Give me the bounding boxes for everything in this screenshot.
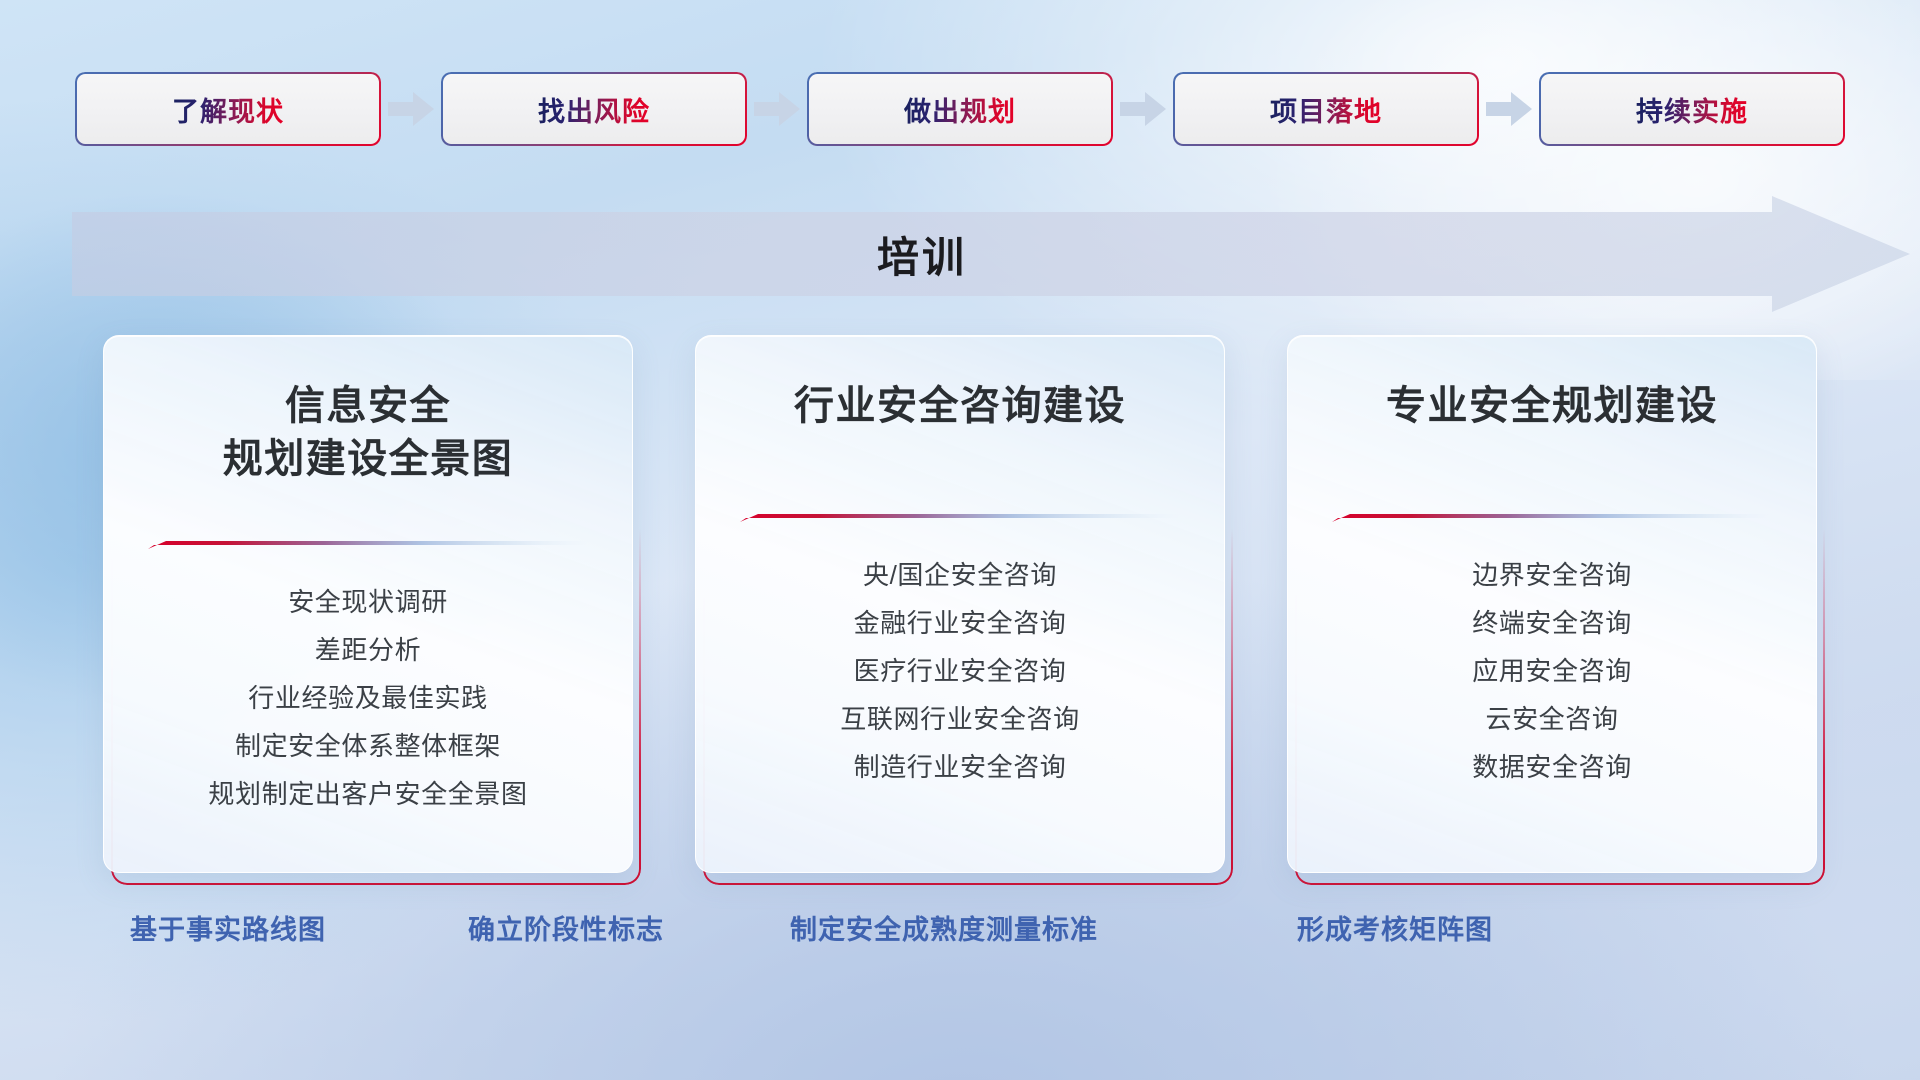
step-pill-3[interactable]: 做出规划 <box>807 72 1113 146</box>
list-item: 医疗行业安全咨询 <box>854 647 1067 695</box>
arrow-right-icon <box>747 72 807 146</box>
list-item: 互联网行业安全咨询 <box>840 695 1079 743</box>
arrow-right-icon <box>1479 72 1539 146</box>
footnote-row: 基于事实路线图 确立阶段性标志 制定安全成熟度测量标准 形成考核矩阵图 <box>0 908 1920 964</box>
step-pill-5[interactable]: 持续实施 <box>1539 72 1845 146</box>
card-title-1: 信息安全 规划建设全景图 <box>104 380 632 486</box>
step-pill-1[interactable]: 了解现状 <box>75 72 381 146</box>
training-banner: 培训 <box>72 196 1910 312</box>
card-list-2: 央/国企安全咨询 金融行业安全咨询 医疗行业安全咨询 互联网行业安全咨询 制造行… <box>696 525 1224 791</box>
step-pill-4[interactable]: 项目落地 <box>1173 72 1479 146</box>
card-divider-slot-2 <box>696 513 1224 525</box>
gradient-divider-icon <box>740 513 1180 525</box>
gradient-divider-icon <box>148 540 588 552</box>
step-label-4: 项目落地 <box>1270 90 1382 129</box>
card-row: 信息安全 规划建设全景图 <box>0 335 1920 873</box>
card-divider-slot-3 <box>1288 513 1816 525</box>
card-3[interactable]: 专业安全规划建设 <box>1287 335 1817 873</box>
card-title-2: 行业安全咨询建设 <box>696 380 1224 433</box>
footnote-1: 基于事实路线图 <box>130 908 326 947</box>
step-label-2: 找出风险 <box>538 90 650 129</box>
banner-title: 培训 <box>72 196 1772 312</box>
gradient-divider-icon <box>1332 513 1772 525</box>
slide-canvas: 了解现状 找出风险 做出规划 项目落地 <box>0 0 1920 1080</box>
list-item: 差距分析 <box>315 626 421 674</box>
list-item: 制定安全体系整体框架 <box>235 722 501 770</box>
step-label-1: 了解现状 <box>172 90 284 129</box>
arrow-right-icon <box>381 72 441 146</box>
list-item: 数据安全咨询 <box>1472 743 1632 791</box>
list-item: 安全现状调研 <box>288 578 448 626</box>
card-1[interactable]: 信息安全 规划建设全景图 <box>103 335 633 873</box>
list-item: 央/国企安全咨询 <box>863 551 1057 599</box>
card-wrapper-3: 专业安全规划建设 <box>1287 335 1817 873</box>
list-item: 应用安全咨询 <box>1472 647 1632 695</box>
card-wrapper-1: 信息安全 规划建设全景图 <box>103 335 633 873</box>
list-item: 边界安全咨询 <box>1472 551 1632 599</box>
card-list-3: 边界安全咨询 终端安全咨询 应用安全咨询 云安全咨询 数据安全咨询 <box>1288 525 1816 791</box>
card-title-3: 专业安全规划建设 <box>1288 380 1816 433</box>
card-wrapper-2: 行业安全咨询建设 <box>695 335 1225 873</box>
step-label-5: 持续实施 <box>1636 90 1748 129</box>
arrow-right-icon <box>1113 72 1173 146</box>
card-2[interactable]: 行业安全咨询建设 <box>695 335 1225 873</box>
step-pill-2[interactable]: 找出风险 <box>441 72 747 146</box>
list-item: 云安全咨询 <box>1485 695 1618 743</box>
step-label-3: 做出规划 <box>904 90 1016 129</box>
footnote-3: 制定安全成熟度测量标准 <box>790 908 1098 947</box>
footnote-4: 形成考核矩阵图 <box>1297 908 1493 947</box>
footnote-2: 确立阶段性标志 <box>468 908 664 947</box>
list-item: 制造行业安全咨询 <box>854 743 1067 791</box>
list-item: 行业经验及最佳实践 <box>248 674 487 722</box>
background-glow-top-right <box>1240 0 1920 380</box>
list-item: 规划制定出客户安全全景图 <box>208 770 527 818</box>
list-item: 终端安全咨询 <box>1472 599 1632 647</box>
card-list-1: 安全现状调研 差距分析 行业经验及最佳实践 制定安全体系整体框架 规划制定出客户… <box>104 552 632 818</box>
card-divider-slot-1 <box>104 540 632 552</box>
list-item: 金融行业安全咨询 <box>854 599 1067 647</box>
process-step-row: 了解现状 找出风险 做出规划 项目落地 <box>0 70 1920 148</box>
